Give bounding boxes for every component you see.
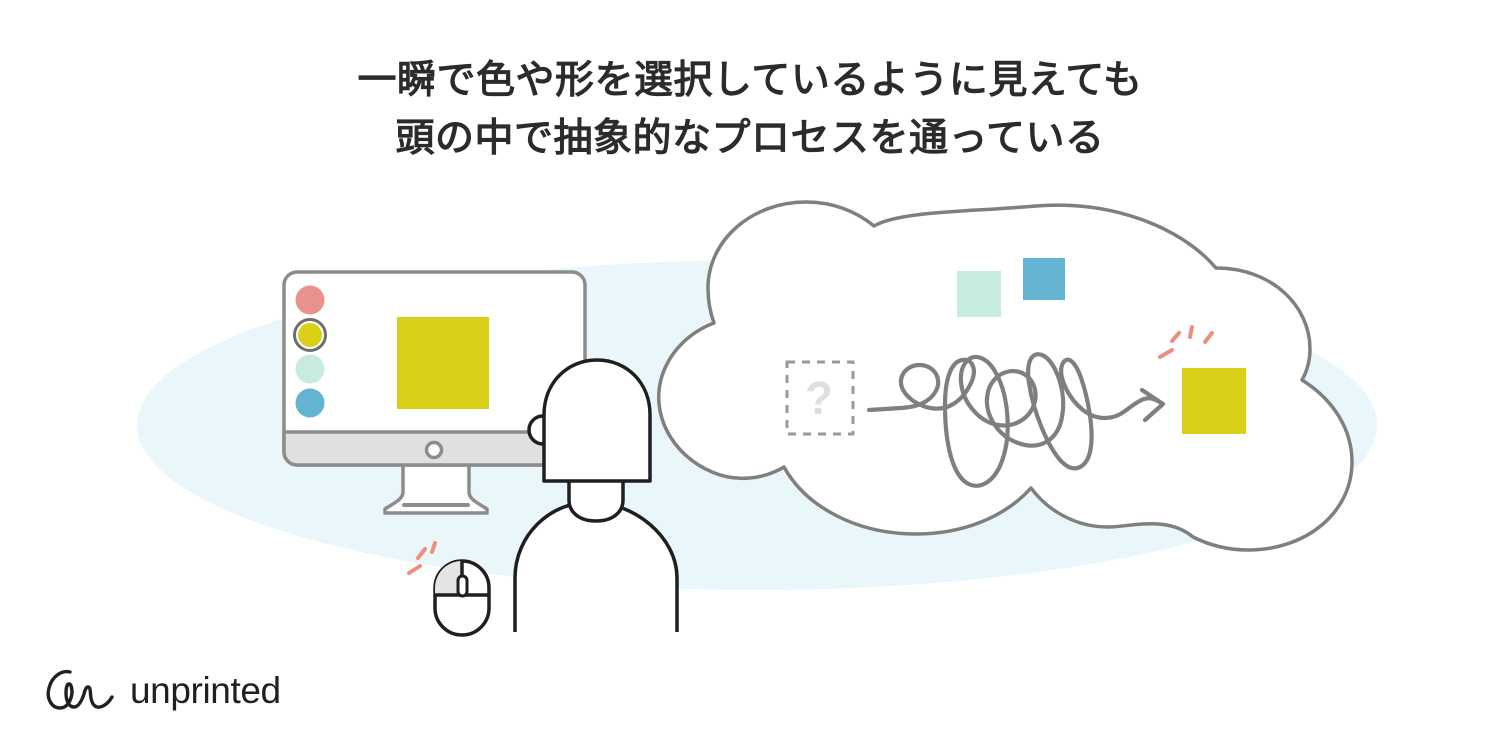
floating-square-blue	[1023, 258, 1065, 300]
floating-square-mint	[957, 271, 1001, 317]
thought-cloud	[659, 202, 1352, 550]
resulting-yellow-square	[1182, 368, 1246, 434]
unprinted-script-mark-icon	[44, 666, 116, 714]
brand-logo[interactable]: unprinted	[44, 666, 281, 714]
thought-bubble-layer	[0, 0, 1500, 750]
brand-wordmark: unprinted	[130, 672, 281, 709]
illustration-canvas: ? 一瞬で色や形を選択しているように見えても 頭の中で抽象的なプロセスを通ってい…	[0, 0, 1500, 750]
